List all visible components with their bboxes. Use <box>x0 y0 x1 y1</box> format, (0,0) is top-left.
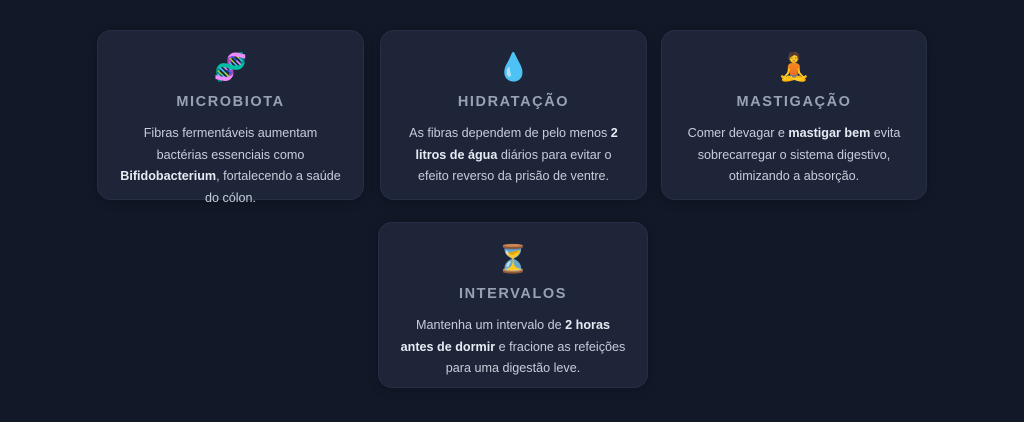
person-lotus-position-icon: 🧘 <box>682 51 906 87</box>
tips-card-grid: 🧬 MICROBIOTA Fibras fermentáveis aumenta… <box>0 0 1024 422</box>
card-title: HIDRATAÇÃO <box>401 93 626 111</box>
water-drop-icon: 💧 <box>401 51 626 87</box>
dna-icon: 🧬 <box>118 51 343 87</box>
card-body: Fibras fermentáveis aumentam bactérias e… <box>118 123 343 209</box>
card-body: Mantenha um intervalo de 2 horas antes d… <box>399 315 627 380</box>
card-mastigacao[interactable]: 🧘 MASTIGAÇÃO Comer devagar e mastigar be… <box>661 30 927 200</box>
card-title: MICROBIOTA <box>118 93 343 111</box>
card-body: As fibras dependem de pelo menos 2 litro… <box>401 123 626 188</box>
card-title: INTERVALOS <box>399 285 627 303</box>
card-intervalos[interactable]: ⏳ INTERVALOS Mantenha um intervalo de 2 … <box>378 222 648 388</box>
card-hidratacao[interactable]: 💧 HIDRATAÇÃO As fibras dependem de pelo … <box>380 30 647 200</box>
hourglass-icon: ⏳ <box>399 243 627 279</box>
card-body: Comer devagar e mastigar bem evita sobre… <box>682 123 906 188</box>
card-microbiota[interactable]: 🧬 MICROBIOTA Fibras fermentáveis aumenta… <box>97 30 364 200</box>
card-title: MASTIGAÇÃO <box>682 93 906 111</box>
